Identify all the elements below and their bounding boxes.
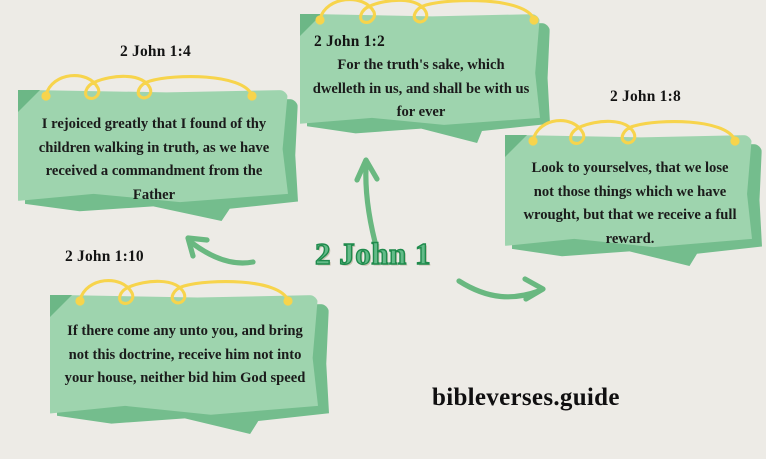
folded-corner-icon [50,295,72,317]
folded-corner-icon [18,90,40,112]
verse-label-2-john-1-8: 2 John 1:8 [610,88,681,106]
arrow-to-1-2-icon [357,160,377,242]
verse-text-2-john-1-10: If there come any unto you, and bring no… [64,320,306,391]
page-title: 2 John 1 [315,236,431,272]
verse-text-2-john-1-8: Look to yourselves, that we lose not tho… [521,157,739,252]
verse-text-2-john-1-2: For the truth's sake, which dwelleth in … [310,54,532,125]
verse-label-2-john-1-4: 2 John 1:4 [120,43,191,61]
arrow-to-1-8-icon [459,279,543,299]
arrow-to-1-4-icon [188,238,253,263]
folded-corner-icon [505,135,527,157]
verse-label-2-john-1-2: 2 John 1:2 [314,33,385,51]
verse-text-2-john-1-4: I rejoiced greatly that I found of thy c… [32,113,276,208]
infographic-canvas: 2 John 1:2 For the truth's sake, which d… [0,0,766,459]
verse-label-2-john-1-10: 2 John 1:10 [65,248,144,266]
brand-watermark: bibleverses.guide [432,384,620,412]
